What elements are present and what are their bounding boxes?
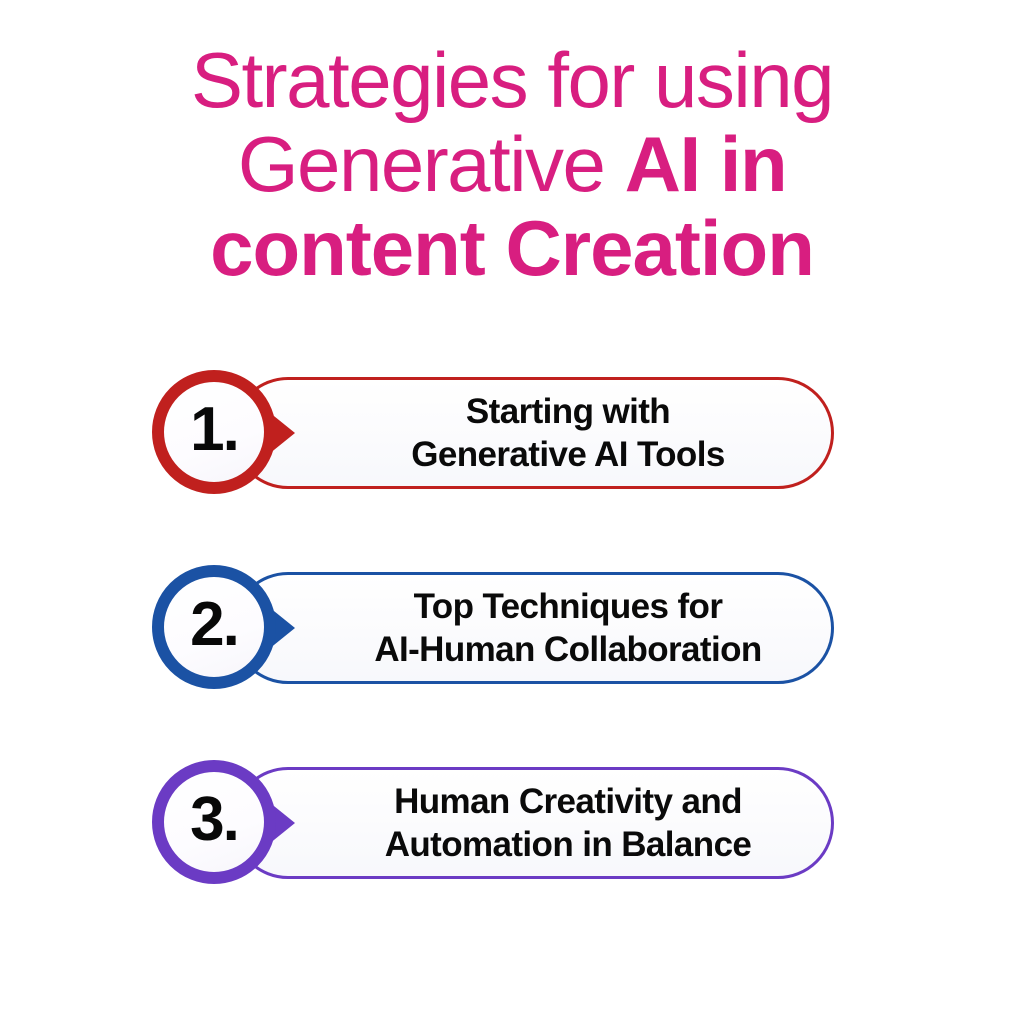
step-number-badge-2: 2. — [152, 565, 276, 689]
step-number-2: 2. — [190, 594, 238, 656]
title-line-3: content Creation — [0, 206, 1024, 290]
step-pill-2[interactable] — [232, 572, 834, 684]
title-line-1: Strategies for using — [0, 38, 1024, 122]
step-pill-3[interactable] — [232, 767, 834, 879]
infographic-canvas: Strategies for using Generative AI in co… — [0, 0, 1024, 1024]
step-item-1[interactable]: 1. Starting with Generative AI Tools — [0, 360, 1024, 555]
step-number-3: 3. — [190, 789, 238, 851]
title-line-2-regular: Generative — [238, 120, 625, 208]
title-line-2: Generative AI in — [0, 122, 1024, 206]
step-number-badge-1: 1. — [152, 370, 276, 494]
step-list: 1. Starting with Generative AI Tools 2. … — [0, 360, 1024, 945]
step-pill-1[interactable] — [232, 377, 834, 489]
step-number-badge-3: 3. — [152, 760, 276, 884]
step-number-1: 1. — [190, 399, 238, 461]
title-line-2-bold: AI in — [625, 120, 787, 208]
step-item-3[interactable]: 3. Human Creativity and Automation in Ba… — [0, 750, 1024, 945]
page-title: Strategies for using Generative AI in co… — [0, 38, 1024, 290]
step-item-2[interactable]: 2. Top Techniques for AI-Human Collabora… — [0, 555, 1024, 750]
